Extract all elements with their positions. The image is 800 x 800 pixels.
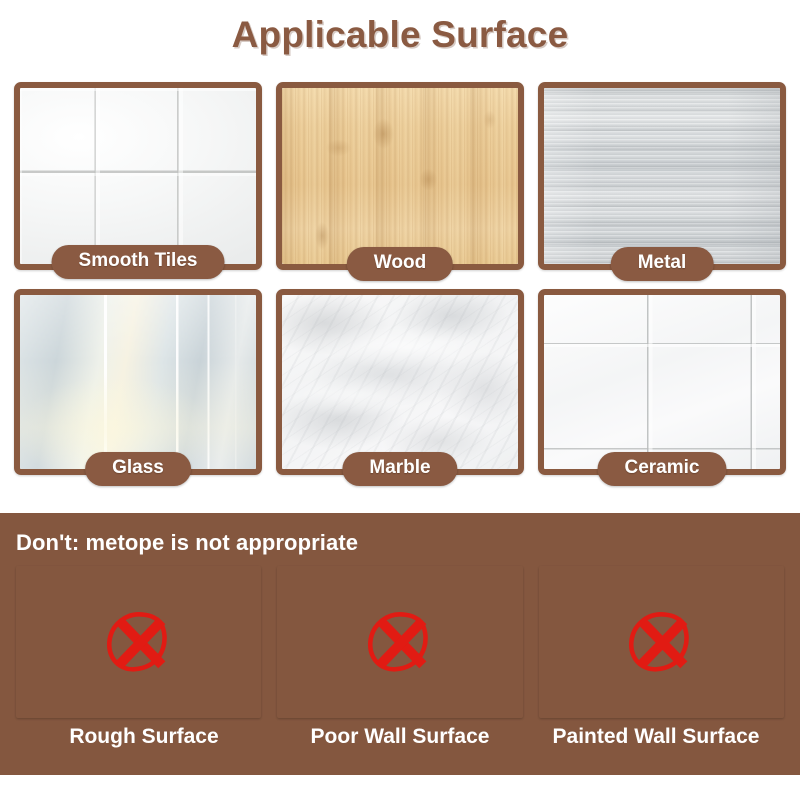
surface-card-metal[interactable]: Metal: [538, 82, 786, 270]
wood-texture-image: [282, 88, 518, 264]
page-title: Applicable Surface: [0, 14, 800, 56]
surface-label-wood: Wood: [347, 247, 453, 281]
red-x-circle-icon: [101, 604, 177, 680]
red-x-circle-icon: [362, 604, 438, 680]
applicable-surface-infographic: Applicable Surface Smooth Tiles Wood Met…: [0, 0, 800, 800]
surface-label-marble: Marble: [342, 452, 457, 486]
dont-label-rough-surface: Rough Surface: [16, 725, 272, 749]
ceramic-texture-image: [544, 295, 780, 469]
surface-card-glass[interactable]: Glass: [14, 289, 262, 475]
surface-label-metal: Metal: [611, 247, 714, 281]
dont-heading: Don't: metope is not appropriate: [16, 530, 358, 556]
surface-card-wood[interactable]: Wood: [276, 82, 524, 270]
surface-label-smooth-tiles: Smooth Tiles: [52, 245, 225, 279]
surface-label-glass: Glass: [85, 452, 191, 486]
dont-card-painted-wall-surface[interactable]: [539, 566, 784, 718]
dont-label-painted-wall-surface: Painted Wall Surface: [528, 725, 784, 749]
dont-banner: Don't: metope is not appropriate: [0, 513, 800, 775]
glass-texture-image: [20, 295, 256, 469]
surface-card-smooth-tiles[interactable]: Smooth Tiles: [14, 82, 262, 270]
metal-texture-image: [544, 88, 780, 264]
marble-texture-image: [282, 295, 518, 469]
smooth-tiles-texture-image: [20, 88, 256, 264]
red-x-circle-icon: [623, 604, 699, 680]
dont-card-poor-wall-surface[interactable]: [277, 566, 522, 718]
surface-card-ceramic[interactable]: Ceramic: [538, 289, 786, 475]
surface-label-ceramic: Ceramic: [598, 452, 727, 486]
dont-card-rough-surface[interactable]: [16, 566, 261, 718]
surface-card-marble[interactable]: Marble: [276, 289, 524, 475]
dont-label-poor-wall-surface: Poor Wall Surface: [272, 725, 528, 749]
applicable-surface-grid: Smooth Tiles Wood Metal Glass Marble Cer…: [14, 82, 786, 475]
dont-surface-grid: [16, 566, 784, 718]
